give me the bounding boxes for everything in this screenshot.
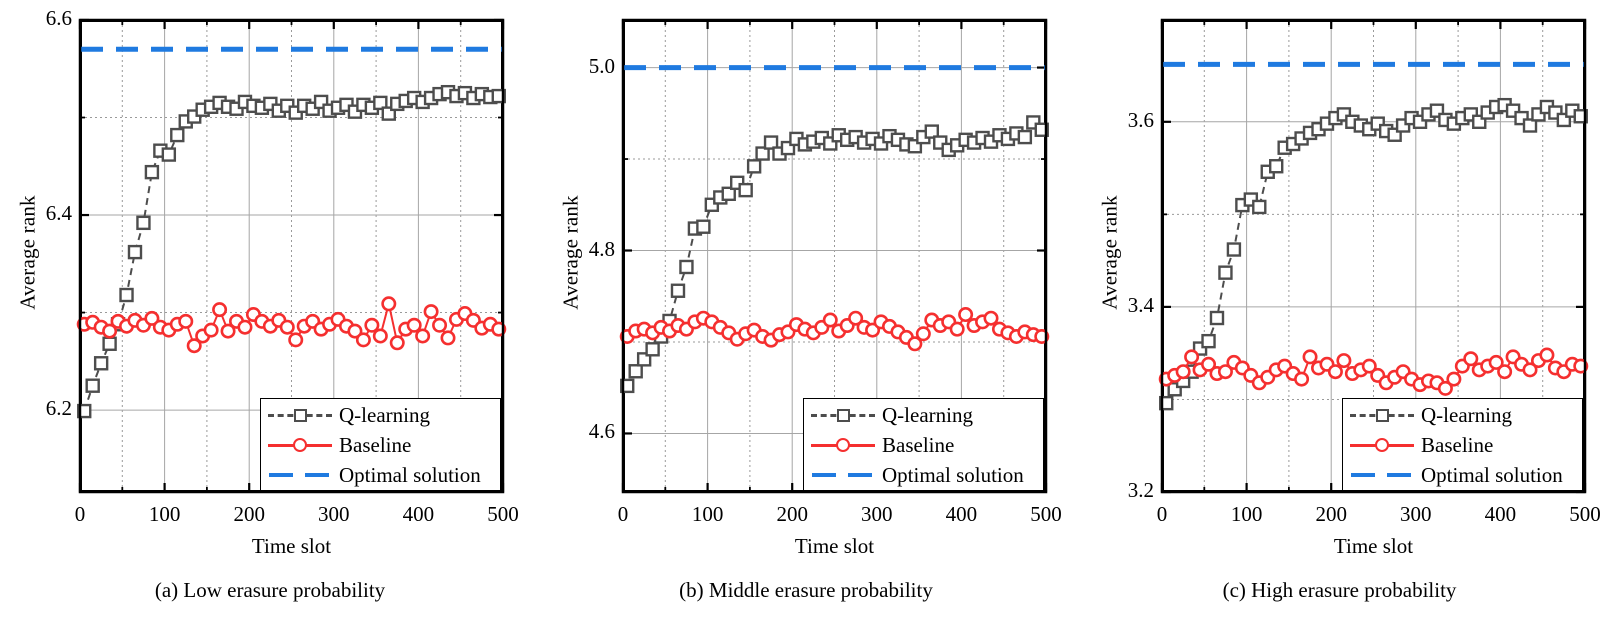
legend-optimal-label: Optimal solution xyxy=(335,465,481,486)
legend-q-learning[interactable]: Q-learning xyxy=(265,400,496,430)
marker-circle xyxy=(180,315,192,327)
legend-baseline[interactable]: Baseline xyxy=(265,430,496,460)
marker-square xyxy=(740,184,752,196)
x-tick-label: 400 xyxy=(388,502,448,527)
legend-optimal[interactable]: Optimal solution xyxy=(808,460,1039,490)
marker-circle xyxy=(1295,373,1307,385)
marker-circle xyxy=(408,319,420,331)
plot-svg-a xyxy=(0,0,540,621)
legend-baseline-symbol xyxy=(1347,430,1417,460)
y-tick-label: 4.6 xyxy=(557,419,615,444)
marker-circle xyxy=(425,305,437,317)
marker-circle xyxy=(1465,353,1477,365)
marker-square xyxy=(1211,312,1223,324)
dash-segment-icon xyxy=(812,473,836,477)
legend-optimal[interactable]: Optimal solution xyxy=(1347,460,1578,490)
y-tick-label: 6.2 xyxy=(14,396,72,421)
y-tick-label: 3.2 xyxy=(1096,478,1154,503)
panel-caption-b: (b) Middle erasure probability xyxy=(533,578,1079,603)
marker-square xyxy=(129,246,141,258)
x-tick-label: 100 xyxy=(1217,502,1277,527)
square-marker-icon xyxy=(1376,409,1389,422)
marker-circle xyxy=(281,321,293,333)
x-tick-label: 100 xyxy=(135,502,195,527)
marker-circle xyxy=(357,334,369,346)
x-tick-label: 500 xyxy=(1016,502,1076,527)
marker-circle xyxy=(951,323,963,335)
legend-q-learning-symbol xyxy=(808,400,878,430)
marker-circle xyxy=(442,332,454,344)
legend-q-learning-label: Q-learning xyxy=(335,405,430,426)
marker-circle xyxy=(1177,365,1189,377)
legend-baseline-label: Baseline xyxy=(878,435,954,456)
marker-circle xyxy=(239,321,251,333)
circle-marker-icon xyxy=(1375,438,1389,452)
x-tick-label: 300 xyxy=(1386,502,1446,527)
legend-q-learning-label: Q-learning xyxy=(878,405,973,426)
marker-square xyxy=(146,166,158,178)
marker-circle xyxy=(383,298,395,310)
marker-square xyxy=(1228,244,1240,256)
marker-circle xyxy=(433,319,445,331)
panel-high-erasure: Average rank Time slot (c) High erasure … xyxy=(1075,0,1604,621)
panel-caption-a: (a) Low erasure probability xyxy=(0,578,540,603)
legend-c[interactable]: Q-learningBaselineOptimal solution xyxy=(1342,398,1583,491)
legend-q-learning-symbol xyxy=(265,400,335,430)
x-tick-label: 0 xyxy=(50,502,110,527)
square-marker-icon xyxy=(837,409,850,422)
legend-baseline-label: Baseline xyxy=(1417,435,1493,456)
marker-square xyxy=(95,357,107,369)
dash-segment-icon xyxy=(269,473,293,477)
legend-q-learning-symbol xyxy=(1347,400,1417,430)
marker-circle xyxy=(374,330,386,342)
marker-square xyxy=(697,221,709,233)
dash-segment-icon xyxy=(305,473,329,477)
dash-segment-icon xyxy=(1351,473,1375,477)
square-marker-icon xyxy=(294,409,307,422)
marker-circle xyxy=(824,314,836,326)
marker-circle xyxy=(213,303,225,315)
y-tick-label: 6.4 xyxy=(14,201,72,226)
x-tick-label: 500 xyxy=(473,502,533,527)
x-axis-label-a: Time slot xyxy=(80,534,503,559)
panel-middle-erasure: Average rank Time slot (b) Middle erasur… xyxy=(533,0,1079,621)
marker-circle xyxy=(1541,349,1553,361)
marker-square xyxy=(680,261,692,273)
x-tick-label: 0 xyxy=(1132,502,1192,527)
legend-q-learning-label: Q-learning xyxy=(1417,405,1512,426)
y-tick-label: 3.6 xyxy=(1096,108,1154,133)
marker-square xyxy=(1019,131,1031,143)
marker-circle xyxy=(1338,354,1350,366)
legend-optimal-symbol xyxy=(1347,460,1417,490)
panel-caption-c: (c) High erasure probability xyxy=(1075,578,1604,603)
x-axis-label-b: Time slot xyxy=(623,534,1046,559)
legend-optimal[interactable]: Optimal solution xyxy=(265,460,496,490)
dash-segment-icon xyxy=(848,473,872,477)
legend-baseline-symbol xyxy=(265,430,335,460)
marker-circle xyxy=(205,324,217,336)
legend-optimal-symbol xyxy=(808,460,878,490)
legend-optimal-label: Optimal solution xyxy=(878,465,1024,486)
marker-circle xyxy=(1185,351,1197,363)
y-tick-label: 6.6 xyxy=(14,6,72,31)
marker-square xyxy=(647,343,659,355)
marker-square xyxy=(1253,201,1265,213)
marker-square xyxy=(171,129,183,141)
y-tick-label: 5.0 xyxy=(557,54,615,79)
marker-square xyxy=(121,289,133,301)
y-tick-label: 4.8 xyxy=(557,237,615,262)
x-tick-label: 500 xyxy=(1555,502,1604,527)
legend-optimal-symbol xyxy=(265,460,335,490)
x-tick-label: 200 xyxy=(1301,502,1361,527)
legend-q-learning[interactable]: Q-learning xyxy=(808,400,1039,430)
marker-circle xyxy=(1498,365,1510,377)
x-tick-label: 300 xyxy=(304,502,364,527)
x-tick-label: 200 xyxy=(762,502,822,527)
marker-square xyxy=(1219,267,1231,279)
marker-circle xyxy=(917,328,929,340)
legend-baseline[interactable]: Baseline xyxy=(1347,430,1578,460)
marker-square xyxy=(672,285,684,297)
marker-circle xyxy=(1304,351,1316,363)
marker-circle xyxy=(290,334,302,346)
marker-circle xyxy=(985,312,997,324)
marker-square xyxy=(748,160,760,172)
x-tick-label: 400 xyxy=(931,502,991,527)
marker-circle xyxy=(1448,373,1460,385)
legend-baseline-label: Baseline xyxy=(335,435,411,456)
marker-square xyxy=(163,149,175,161)
marker-square xyxy=(1203,335,1215,347)
legend-baseline-symbol xyxy=(808,430,878,460)
marker-circle xyxy=(391,337,403,349)
marker-circle xyxy=(959,308,971,320)
plot-svg-c xyxy=(1075,0,1604,621)
legend-a[interactable]: Q-learningBaselineOptimal solution xyxy=(260,398,501,491)
x-axis-label-c: Time slot xyxy=(1162,534,1585,559)
panel-low-erasure: Average rank Time slot (a) Low erasure p… xyxy=(0,0,540,621)
legend-q-learning[interactable]: Q-learning xyxy=(1347,400,1578,430)
circle-marker-icon xyxy=(293,438,307,452)
marker-square xyxy=(104,338,116,350)
legend-b[interactable]: Q-learningBaselineOptimal solution xyxy=(803,398,1044,491)
x-tick-label: 400 xyxy=(1470,502,1530,527)
x-tick-label: 200 xyxy=(219,502,279,527)
circle-marker-icon xyxy=(836,438,850,452)
marker-circle xyxy=(1329,365,1341,377)
dash-segment-icon xyxy=(1387,473,1411,477)
marker-square xyxy=(87,380,99,392)
x-tick-label: 100 xyxy=(678,502,738,527)
marker-square xyxy=(137,217,149,229)
y-tick-label: 3.4 xyxy=(1096,293,1154,318)
marker-circle xyxy=(366,319,378,331)
marker-square xyxy=(630,365,642,377)
x-tick-label: 300 xyxy=(847,502,907,527)
marker-circle xyxy=(416,330,428,342)
marker-square xyxy=(1270,160,1282,172)
x-tick-label: 0 xyxy=(593,502,653,527)
figure-container: Average rank Time slot (a) Low erasure p… xyxy=(0,0,1604,621)
legend-baseline[interactable]: Baseline xyxy=(808,430,1039,460)
plot-svg-b xyxy=(533,0,1079,621)
legend-optimal-label: Optimal solution xyxy=(1417,465,1563,486)
